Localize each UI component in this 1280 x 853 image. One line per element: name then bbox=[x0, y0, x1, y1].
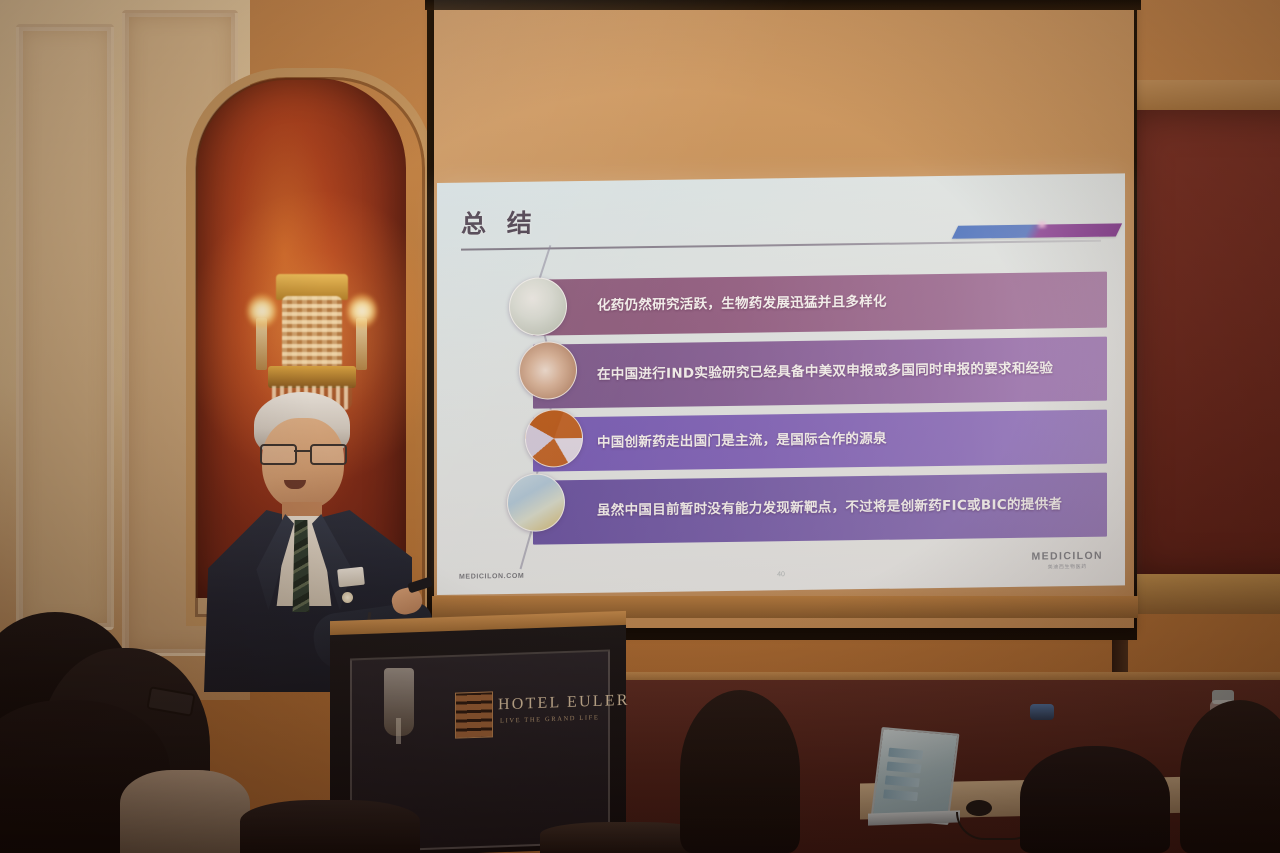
title-underline-rule bbox=[461, 240, 1101, 251]
candle-flame-left-icon bbox=[247, 294, 277, 328]
projection-screen-roller bbox=[425, 0, 1141, 10]
desk-device bbox=[1030, 704, 1054, 720]
slide-title: 总 结 bbox=[461, 204, 538, 241]
audience-head bbox=[680, 690, 800, 853]
decorative-spark-icon bbox=[1037, 220, 1047, 228]
slide-bullet-text: 中国创新药走出国门是主流，是国际合作的源泉 bbox=[597, 430, 887, 453]
logo-wordmark: MEDICILON bbox=[1031, 550, 1103, 563]
water-glass-stem bbox=[396, 718, 401, 744]
logo-subtitle: 美迪西生物医药 bbox=[1031, 563, 1103, 571]
presenter-name-badge bbox=[337, 567, 365, 588]
wall-panel-moulding-1 bbox=[16, 24, 114, 630]
connector-line bbox=[520, 530, 533, 569]
candle-flame-right-icon bbox=[347, 294, 377, 328]
conference-presentation-photo: 总 结 化药仍然研究活跃，生物药发展迅猛并且多样化 在中国进行IND实验研究已经… bbox=[0, 0, 1280, 853]
presenter-eyeglasses bbox=[258, 444, 350, 461]
slide-bullet-text: 在中国进行IND实验研究已经具备中美双申报或多国同时申报的要求和经验 bbox=[597, 360, 1053, 386]
slide-footer-url: MEDICILON.COM bbox=[459, 573, 524, 581]
medicilon-logo: MEDICILON 美迪西生物医药 bbox=[1031, 550, 1103, 571]
slide-bullet-row: 中国创新药走出国门是主流，是国际合作的源泉 bbox=[533, 410, 1107, 472]
presenter-lapel-pin bbox=[342, 592, 353, 603]
right-panel-base bbox=[1118, 574, 1280, 614]
audience-shoulder bbox=[120, 770, 250, 853]
slide-bullet-text: 虽然中国目前暂时没有能力发现新靶点，不过将是创新药FIC或BIC的提供者 bbox=[597, 496, 1062, 522]
audience-head bbox=[1020, 746, 1170, 853]
slide-bullet-row: 在中国进行IND实验研究已经具备中美双申报或多国同时申报的要求和经验 bbox=[533, 337, 1107, 409]
slide-page-number: 40 bbox=[777, 571, 785, 578]
slide-bullet-row: 化药仍然研究活跃，生物药发展迅猛并且多样化 bbox=[533, 272, 1107, 336]
right-panel-cornice bbox=[1120, 80, 1280, 114]
hotel-crest-icon bbox=[455, 691, 493, 738]
presentation-slide: 总 结 化药仍然研究活跃，生物药发展迅猛并且多样化 在中国进行IND实验研究已经… bbox=[437, 173, 1125, 595]
slide-bullet-list: 化药仍然研究活跃，生物药发展迅猛并且多样化 在中国进行IND实验研究已经具备中美… bbox=[533, 272, 1107, 554]
sconce-base bbox=[268, 366, 356, 388]
right-red-wall-panel bbox=[1128, 110, 1280, 580]
sconce-crystal-beads bbox=[282, 296, 342, 370]
slide-bullet-text: 化药仍然研究活跃，生物药发展迅猛并且多样化 bbox=[597, 293, 887, 316]
slide-bullet-row: 虽然中国目前暂时没有能力发现新靶点，不过将是创新药FIC或BIC的提供者 bbox=[533, 473, 1107, 545]
audience-shoulder bbox=[240, 800, 420, 853]
